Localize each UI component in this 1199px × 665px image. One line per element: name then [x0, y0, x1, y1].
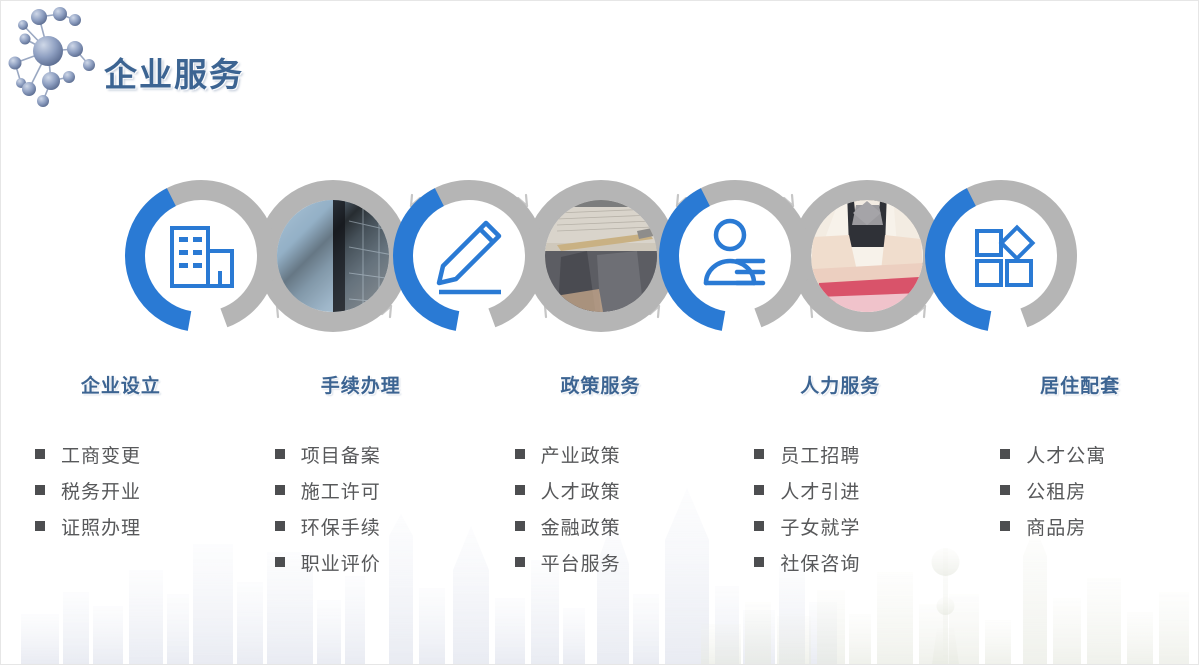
- list-item-label: 项目备案: [301, 441, 381, 468]
- list-item-label: 金融政策: [541, 513, 621, 540]
- service-columns: 企业设立 工商变更 税务开业 证照办理 手续办理 项目备案 施工许可 环保手续 …: [1, 371, 1199, 601]
- bullet-square-icon: [515, 521, 525, 531]
- slide-canvas: 企业服务: [0, 0, 1199, 665]
- list-item-label: 社保咨询: [780, 549, 860, 576]
- list-item-label: 人才政策: [541, 477, 621, 504]
- bullet-square-icon: [754, 557, 764, 567]
- column-heading: 居住配套: [960, 371, 1199, 398]
- service-column-4: 人力服务 员工招聘 人才引进 子女就学 社保咨询: [720, 371, 960, 601]
- list-item-label: 环保手续: [301, 513, 381, 540]
- list-item-label: 员工招聘: [780, 441, 860, 468]
- bullet-square-icon: [515, 449, 525, 459]
- list-item[interactable]: 人才引进: [720, 472, 960, 508]
- chain-node-photo-2: [267, 181, 399, 323]
- list-item-label: 公租房: [1026, 477, 1086, 504]
- bullet-square-icon: [275, 521, 285, 531]
- list-item[interactable]: 金融政策: [481, 508, 721, 544]
- list-item-label: 工商变更: [61, 441, 141, 468]
- chain-node-icon-3: [379, 166, 559, 346]
- column-list: 产业政策 人才政策 金融政策 平台服务: [481, 436, 721, 580]
- list-item-label: 平台服务: [541, 549, 621, 576]
- list-item-label: 商品房: [1026, 513, 1086, 540]
- list-item[interactable]: 职业评价: [241, 544, 481, 580]
- column-heading: 企业设立: [1, 371, 241, 398]
- list-item-label: 产业政策: [541, 441, 621, 468]
- list-item-label: 人才引进: [780, 477, 860, 504]
- column-heading: 人力服务: [720, 371, 960, 398]
- column-list: 工商变更 税务开业 证照办理: [1, 436, 241, 544]
- bullet-square-icon: [1000, 449, 1010, 459]
- service-column-3: 政策服务 产业政策 人才政策 金融政策 平台服务: [481, 371, 721, 601]
- list-item-label: 子女就学: [780, 513, 860, 540]
- bullet-square-icon: [754, 521, 764, 531]
- list-item[interactable]: 子女就学: [720, 508, 960, 544]
- bullet-square-icon: [35, 485, 45, 495]
- circle-chain: [1, 151, 1199, 361]
- chain-node-photo-6: [801, 190, 933, 323]
- list-item[interactable]: 产业政策: [481, 436, 721, 472]
- list-item[interactable]: 商品房: [960, 508, 1199, 544]
- bullet-square-icon: [515, 557, 525, 567]
- list-item[interactable]: 环保手续: [241, 508, 481, 544]
- column-list: 人才公寓 公租房 商品房: [960, 436, 1199, 544]
- bullet-square-icon: [35, 449, 45, 459]
- bullet-square-icon: [35, 521, 45, 531]
- list-item[interactable]: 人才公寓: [960, 436, 1199, 472]
- list-item-label: 施工许可: [301, 477, 381, 504]
- chain-node-icon-1: [111, 166, 291, 346]
- list-item[interactable]: 施工许可: [241, 472, 481, 508]
- list-item[interactable]: 项目备案: [241, 436, 481, 472]
- list-item[interactable]: 税务开业: [1, 472, 241, 508]
- service-column-1: 企业设立 工商变更 税务开业 证照办理: [1, 371, 241, 601]
- column-heading: 政策服务: [481, 371, 721, 398]
- column-list: 员工招聘 人才引进 子女就学 社保咨询: [720, 436, 960, 580]
- list-item-label: 税务开业: [61, 477, 141, 504]
- chain-node-icon-5: [645, 166, 825, 346]
- bullet-square-icon: [754, 485, 764, 495]
- chain-node-photo-4: [535, 190, 667, 323]
- bullet-square-icon: [1000, 485, 1010, 495]
- service-column-2: 手续办理 项目备案 施工许可 环保手续 职业评价: [241, 371, 481, 601]
- page-title: 企业服务: [104, 48, 244, 96]
- bullet-square-icon: [275, 557, 285, 567]
- list-item-label: 证照办理: [61, 513, 141, 540]
- bullet-square-icon: [275, 449, 285, 459]
- molecule-icon: [3, 3, 103, 113]
- list-item-label: 人才公寓: [1026, 441, 1106, 468]
- list-item[interactable]: 工商变更: [1, 436, 241, 472]
- column-heading: 手续办理: [241, 371, 481, 398]
- bullet-square-icon: [754, 449, 764, 459]
- column-list: 项目备案 施工许可 环保手续 职业评价: [241, 436, 481, 580]
- bullet-square-icon: [515, 485, 525, 495]
- list-item[interactable]: 证照办理: [1, 508, 241, 544]
- bullet-square-icon: [1000, 521, 1010, 531]
- list-item[interactable]: 社保咨询: [720, 544, 960, 580]
- chain-node-icon-7: [911, 166, 1091, 346]
- service-column-5: 居住配套 人才公寓 公租房 商品房: [960, 371, 1199, 601]
- list-item[interactable]: 人才政策: [481, 472, 721, 508]
- list-item[interactable]: 公租房: [960, 472, 1199, 508]
- list-item[interactable]: 平台服务: [481, 544, 721, 580]
- bullet-square-icon: [275, 485, 285, 495]
- list-item[interactable]: 员工招聘: [720, 436, 960, 472]
- list-item-label: 职业评价: [301, 549, 381, 576]
